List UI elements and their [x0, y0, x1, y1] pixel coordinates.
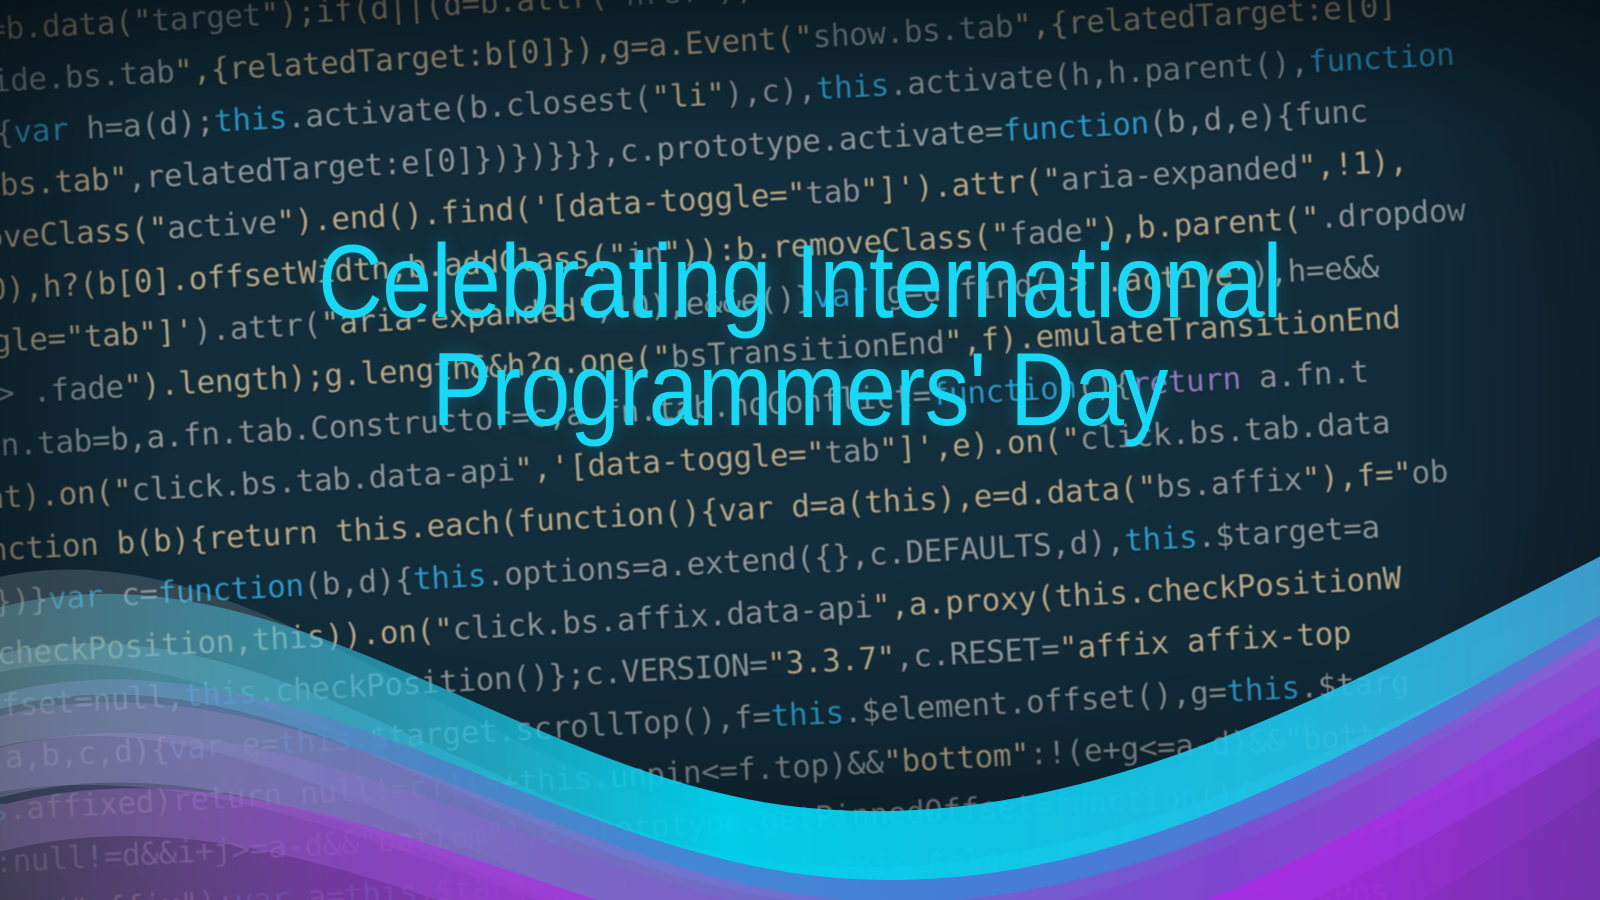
poster-canvas: }),function(a){"use strict";var c=functi…	[0, 0, 1600, 900]
code-wallpaper: }),function(a){"use strict";var c=functi…	[0, 0, 1600, 900]
